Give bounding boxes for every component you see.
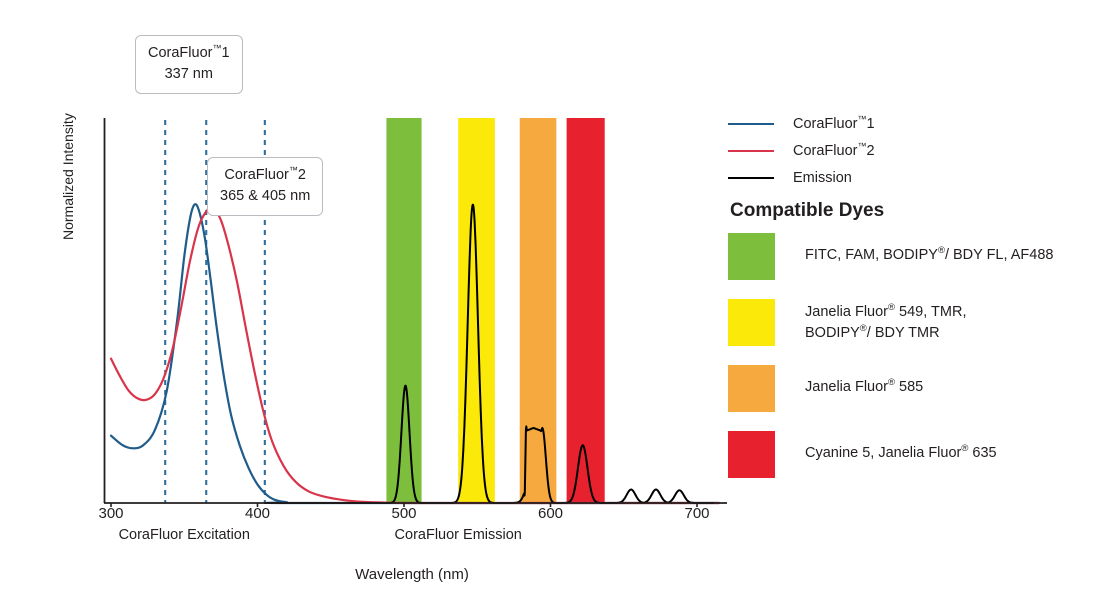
x-tick-label-400: 400 <box>245 505 270 522</box>
dye-label-3: Cyanine 5, Janelia Fluor® 635 <box>805 431 997 464</box>
legend-line-swatch-0 <box>728 123 774 125</box>
series-legend-list: CoraFluor™1CoraFluor™2Emission <box>728 110 1110 191</box>
y-axis-title: Normalized Intensity <box>60 214 76 240</box>
legend-line-swatch-1 <box>728 150 774 152</box>
emission-band-overlays <box>386 118 604 503</box>
dye-label-line1-1: Janelia Fluor® 549, TMR, <box>805 302 966 323</box>
x-axis-title: Wavelength (nm) <box>355 566 469 583</box>
legend-label-2: Emission <box>793 170 852 186</box>
legend-label-index-1: 2 <box>866 143 874 159</box>
region-label-1: CoraFluor Emission <box>395 527 522 543</box>
dye-label-1: Janelia Fluor® 549, TMR,BODIPY®/ BDY TMR <box>805 299 966 343</box>
callout-corafluor1-line1: CoraFluor™1 <box>148 43 230 64</box>
dye-color-swatch-2 <box>728 365 775 412</box>
fluorescence-spectra-figure: 300400500600700 CoraFluor ExcitationCora… <box>0 0 1110 612</box>
dye-row-1: Janelia Fluor® 549, TMR,BODIPY®/ BDY TMR <box>728 299 1110 348</box>
x-tick-label-700: 700 <box>684 505 709 522</box>
callout-corafluor1: CoraFluor™1 337 nm <box>135 35 243 94</box>
callout-corafluor1-name: CoraFluor <box>148 45 212 61</box>
dye-label-2: Janelia Fluor® 585 <box>805 365 923 398</box>
x-tick-label-600: 600 <box>538 505 563 522</box>
callout-corafluor2-name: CoraFluor <box>224 167 288 183</box>
callout-corafluor2: CoraFluor™2 365 & 405 nm <box>207 157 323 216</box>
x-tick-label-300: 300 <box>98 505 123 522</box>
legend-label-1: CoraFluor™2 <box>793 143 875 159</box>
chart-plot-area: 300400500600700 CoraFluor ExcitationCora… <box>0 0 740 612</box>
legend-row-1: CoraFluor™2 <box>728 137 1110 164</box>
callout-corafluor1-index: 1 <box>221 45 229 61</box>
registered-icon: ® <box>888 302 895 313</box>
legend-panel: CoraFluor™1CoraFluor™2Emission Compatibl… <box>728 0 1110 612</box>
legend-label-main-1: CoraFluor <box>793 143 857 159</box>
registered-icon: ® <box>961 443 968 454</box>
callout-corafluor2-wavelength: 365 & 405 nm <box>220 186 310 207</box>
legend-label-index-0: 1 <box>866 116 874 132</box>
compatible-dyes-list: FITC, FAM, BODIPY®/ BDY FL, AF488Janelia… <box>728 233 1110 497</box>
dye-color-swatch-3 <box>728 431 775 478</box>
x-tick-label-500: 500 <box>391 505 416 522</box>
legend-label-0: CoraFluor™1 <box>793 116 875 132</box>
legend-label-main-2: Emission <box>793 170 852 186</box>
registered-icon: ® <box>860 323 867 334</box>
legend-row-2: Emission <box>728 164 1110 191</box>
registered-icon: ® <box>888 377 895 388</box>
legend-row-0: CoraFluor™1 <box>728 110 1110 137</box>
dye-label-0: FITC, FAM, BODIPY®/ BDY FL, AF488 <box>805 233 1053 266</box>
trademark-icon: ™ <box>289 165 298 175</box>
dye-row-0: FITC, FAM, BODIPY®/ BDY FL, AF488 <box>728 233 1110 282</box>
callout-corafluor1-wavelength: 337 nm <box>148 64 230 85</box>
compatible-dyes-heading: Compatible Dyes <box>730 200 884 222</box>
emission-band-3 <box>567 118 605 503</box>
callout-corafluor2-line1: CoraFluor™2 <box>220 165 310 186</box>
dye-row-3: Cyanine 5, Janelia Fluor® 635 <box>728 431 1110 480</box>
legend-label-main-0: CoraFluor <box>793 116 857 132</box>
dye-row-2: Janelia Fluor® 585 <box>728 365 1110 414</box>
dye-label-line1-2: Janelia Fluor® 585 <box>805 377 923 398</box>
dye-color-swatch-1 <box>728 299 775 346</box>
dye-color-swatch-0 <box>728 233 775 280</box>
legend-line-swatch-2 <box>728 177 774 179</box>
dye-label-line2-1: BODIPY®/ BDY TMR <box>805 323 966 344</box>
dye-label-line1-3: Cyanine 5, Janelia Fluor® 635 <box>805 443 997 464</box>
dye-label-line1-0: FITC, FAM, BODIPY®/ BDY FL, AF488 <box>805 245 1053 266</box>
region-label-0: CoraFluor Excitation <box>119 527 250 543</box>
callout-corafluor2-index: 2 <box>298 167 306 183</box>
registered-icon: ® <box>938 245 945 256</box>
emission-band-0 <box>386 118 421 503</box>
